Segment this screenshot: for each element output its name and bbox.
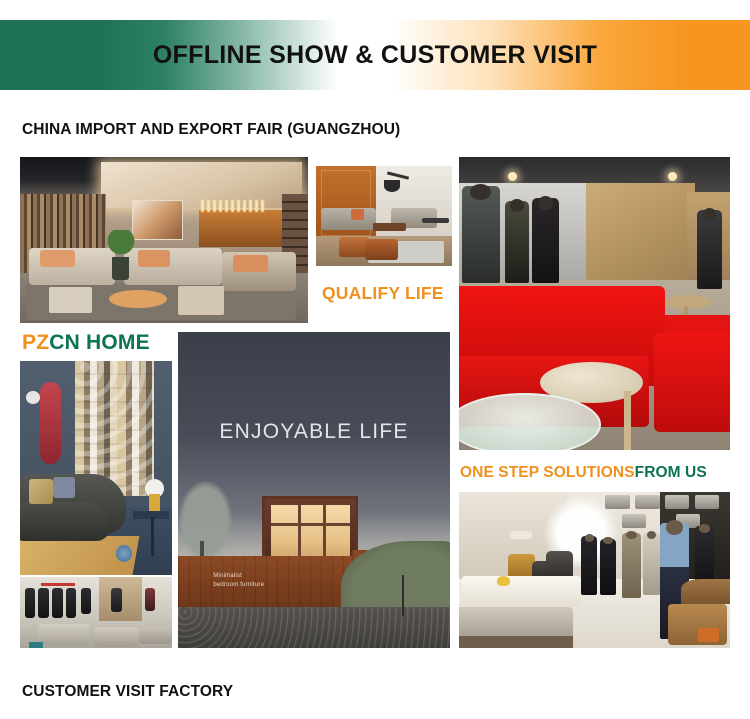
photo-pendant-lamp-a — [605, 495, 629, 509]
photo-visitor-c — [532, 198, 559, 283]
photo-tan-partition-wall — [586, 183, 694, 291]
photo-teal-accent — [29, 642, 43, 648]
qualify-life-interior-photo — [316, 166, 452, 266]
photo-table-leg — [624, 391, 631, 450]
photo-visitor-a — [462, 186, 500, 283]
photo-orange-accent — [698, 628, 720, 642]
photo-pendant-lamp-d — [695, 495, 719, 509]
photo-sofa-a — [38, 624, 90, 645]
photo-visitor-f — [111, 588, 122, 612]
photo-ottoman-right — [178, 286, 224, 314]
photo-visitor-head — [666, 520, 683, 535]
photo-visitor-g — [145, 588, 156, 611]
photo-side-stand-leg — [151, 517, 154, 556]
photo-floor-lamp — [510, 531, 532, 539]
photo-window-mullion-a — [298, 505, 301, 563]
photo-wall-sconce — [26, 391, 40, 404]
photo-sofa-left — [321, 208, 375, 230]
brand-logo-cnhome: CN HOME — [49, 331, 150, 354]
photo-pendant-lamp-e — [622, 514, 646, 528]
showroom-bright-visitors-photo — [459, 492, 730, 648]
photo-cushion-b — [138, 250, 170, 267]
photo-visitor-e — [81, 588, 92, 614]
photo-visitor-head — [703, 208, 716, 221]
photo-accent-pillow — [351, 209, 363, 220]
enjoyable-life-house-photo: ENJOYABLE LIFE Minimalist bedroom furnit… — [178, 332, 450, 648]
photo-window-mullion-h — [271, 523, 350, 526]
caption-enjoyable-life-sub: Minimalist bedroom furniture — [213, 572, 264, 589]
photo-red-sofa-right — [654, 333, 730, 433]
photo-spotlight-a — [508, 172, 517, 181]
photo-wood-table — [681, 579, 730, 604]
photo-house-window-glass — [271, 505, 350, 563]
photo-visitor-c — [52, 588, 63, 618]
photo-side-table — [422, 218, 449, 223]
page-banner: OFFLINE SHOW & CUSTOMER VISIT — [0, 20, 750, 90]
photo-yellow-accent — [497, 576, 511, 585]
photo-visitor-b — [600, 539, 616, 595]
photo-visitor-head — [538, 196, 553, 210]
caption-one-step-solutions-green: FROM US — [635, 464, 707, 481]
brand-logo-pzcnhome: PZCN HOME — [22, 331, 150, 355]
section-heading-factory: CUSTOMER VISIT FACTORY — [22, 683, 233, 701]
photo-coffee-table — [373, 223, 406, 231]
photo-bar-area — [199, 210, 285, 247]
photo-pendant-lamp-b — [635, 495, 659, 509]
banner-title: OFFLINE SHOW & CUSTOMER VISIT — [153, 41, 597, 70]
photo-visitor-a — [581, 536, 597, 595]
photo-visitor-d — [697, 210, 721, 289]
photo-coffee-table — [109, 290, 167, 308]
photo-visitor-b — [505, 201, 529, 283]
photo-ottoman-left — [49, 287, 92, 314]
dark-sofa-patterned-wall-photo — [20, 361, 172, 575]
photo-cushion-a — [40, 250, 75, 267]
photo-leather-ottoman-b — [365, 239, 398, 260]
caption-qualify-life: QUALIFY LIFE — [322, 283, 444, 304]
photo-blue-pillow — [53, 477, 74, 498]
photo-visitor-head — [626, 531, 637, 540]
photo-red-wall-panel — [40, 382, 61, 463]
caption-enjoyable-life: ENJOYABLE LIFE — [178, 420, 450, 444]
photo-visitor-head — [585, 534, 594, 542]
showroom-living-room-photo — [20, 157, 308, 323]
photo-visitor-head — [647, 531, 656, 539]
photo-sofa-b — [93, 627, 139, 647]
photo-spotlight-b — [668, 172, 677, 181]
photo-window-mullion-b — [323, 505, 326, 563]
photo-gold-pillow — [29, 479, 53, 505]
photo-dark-chair-b — [546, 551, 573, 576]
caption-one-step-solutions: ONE STEP SOLUTIONSFROM US — [460, 464, 707, 482]
photo-red-accent-strip — [41, 583, 74, 587]
photo-sofa-c — [139, 627, 172, 644]
photo-visitor-head — [603, 537, 612, 544]
photo-visitor-head — [699, 524, 710, 532]
tradeshow-red-sofa-booth-photo — [459, 157, 730, 450]
photo-glass-coffee-table — [459, 393, 601, 450]
photo-visitor-d — [66, 588, 77, 618]
brand-logo-pz: PZ — [22, 331, 49, 354]
photo-visitor-b — [38, 588, 49, 618]
photo-pendant-lamp-c — [665, 495, 689, 509]
photo-vase — [112, 257, 129, 280]
photo-cushion-c — [233, 255, 268, 272]
photo-visitor-head — [470, 184, 491, 199]
photo-visitor-a — [25, 588, 36, 618]
section-heading-fair: CHINA IMPORT AND EXPORT FAIR (GUANGZHOU) — [22, 121, 400, 139]
caption-one-step-solutions-orange: ONE STEP SOLUTIONS — [460, 464, 635, 481]
photo-gravel-ground — [178, 607, 450, 648]
photo-visitor-d — [643, 533, 659, 595]
photo-visitor-head — [510, 199, 523, 212]
photo-chandelier — [201, 200, 264, 212]
photo-garden-pole — [402, 575, 404, 616]
photo-visitor-c — [622, 533, 641, 599]
photo-white-daybed — [462, 576, 581, 607]
photo-dark-sofa-seat — [20, 502, 110, 541]
photo-daybed-base — [459, 636, 573, 648]
showroom-visitors-photo — [20, 577, 172, 648]
